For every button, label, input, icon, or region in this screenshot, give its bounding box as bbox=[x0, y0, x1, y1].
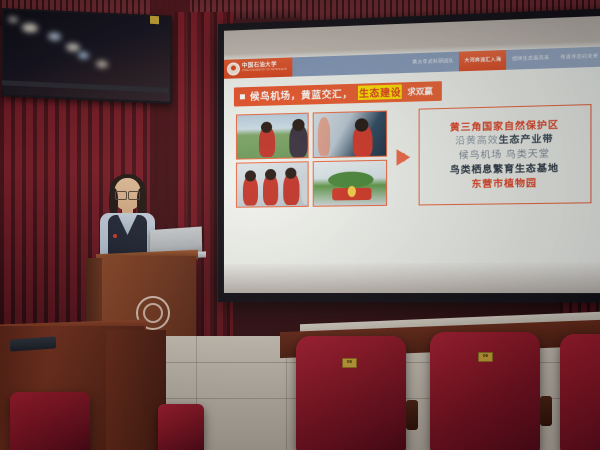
seat-number-plate: 06 bbox=[478, 352, 493, 362]
presentation-slide: 中国石油大学 CHINA UNIVERSITY OF PETROLEUM 黄大年… bbox=[224, 46, 600, 264]
university-name-en: CHINA UNIVERSITY OF PETROLEUM bbox=[242, 69, 287, 73]
nav-item-1-active[interactable]: 大河奔流汇入海 bbox=[459, 50, 507, 71]
screen-surface: 中国石油大学 CHINA UNIVERSITY OF PETROLEUM 黄大年… bbox=[224, 16, 600, 293]
auditorium-seat bbox=[158, 404, 204, 450]
key-point-1: 沿黄高效生态产业带 bbox=[455, 135, 553, 147]
slide-content: 黄三角国家自然保护区 沿黄高效生态产业带 候鸟机场 鸟类天堂 鸟类栖息繁育生态基… bbox=[236, 104, 592, 208]
slide-title-banner: 候鸟机场，黄蓝交汇， 生态建设 求双赢 bbox=[234, 81, 442, 107]
presenter-badge bbox=[113, 234, 117, 238]
right-arrow-icon bbox=[396, 149, 410, 166]
seat-armrest bbox=[406, 400, 418, 430]
photo-thumbnail bbox=[236, 112, 309, 159]
key-points-box: 黄三角国家自然保护区 沿黄高效生态产业带 候鸟机场 鸟类天堂 鸟类栖息繁育生态基… bbox=[419, 104, 592, 205]
key-point-1-emphasis: 生态产业带 bbox=[499, 134, 554, 146]
key-point-2: 候鸟机场 鸟类天堂 bbox=[459, 149, 550, 160]
auditorium-seat bbox=[10, 392, 90, 450]
key-point-3: 鸟类栖息繁育生态基地 bbox=[450, 164, 559, 176]
auditorium-seat: 06 bbox=[430, 332, 540, 450]
nav-item-2[interactable]: 旭映生态展风采 bbox=[507, 48, 555, 69]
slide-nav: 黄大年式科研团队 大河奔流汇入海 旭映生态展风采 传道寻迹向未来 bbox=[292, 46, 600, 76]
auditorium-seat bbox=[560, 334, 600, 450]
key-point-4: 东营市植物园 bbox=[471, 179, 536, 190]
seat-number: 06 bbox=[479, 353, 492, 359]
slide-title-highlight: 生态建设 bbox=[358, 85, 402, 101]
seat-number-plate: 05 bbox=[342, 358, 357, 368]
slide-title-lead: 候鸟机场，黄蓝交汇， bbox=[250, 86, 353, 103]
key-point-0: 黄三角国家自然保护区 bbox=[450, 120, 559, 132]
auditorium-seat: 05 bbox=[296, 336, 406, 450]
arrow-wrapper bbox=[387, 149, 418, 166]
photo-thumbnail bbox=[312, 110, 387, 158]
university-logo: 中国石油大学 CHINA UNIVERSITY OF PETROLEUM bbox=[224, 57, 292, 78]
university-seal-icon bbox=[227, 62, 240, 75]
display-label-tag bbox=[150, 16, 159, 24]
photo-thumbnail bbox=[312, 160, 387, 207]
nav-item-0[interactable]: 黄大年式科研团队 bbox=[407, 51, 459, 72]
slide-title-tail: 求双赢 bbox=[407, 85, 432, 97]
photo-thumbnail bbox=[236, 161, 309, 208]
bullet-square-icon bbox=[240, 94, 245, 99]
projection-screen: 中国石油大学 CHINA UNIVERSITY OF PETROLEUM 黄大年… bbox=[218, 8, 600, 302]
seat-number: 05 bbox=[343, 359, 356, 365]
desk-partition bbox=[106, 330, 166, 450]
presenter-glasses bbox=[115, 191, 140, 198]
auditorium-photo: 中国石油大学 CHINA UNIVERSITY OF PETROLEUM 黄大年… bbox=[0, 0, 600, 450]
key-point-1-lead: 沿黄高效 bbox=[455, 135, 498, 146]
seat-armrest bbox=[540, 396, 552, 426]
photo-grid bbox=[236, 110, 387, 208]
nav-item-3[interactable]: 传道寻迹向未来 bbox=[555, 46, 600, 68]
slide-header-bar: 中国石油大学 CHINA UNIVERSITY OF PETROLEUM 黄大年… bbox=[224, 46, 600, 78]
